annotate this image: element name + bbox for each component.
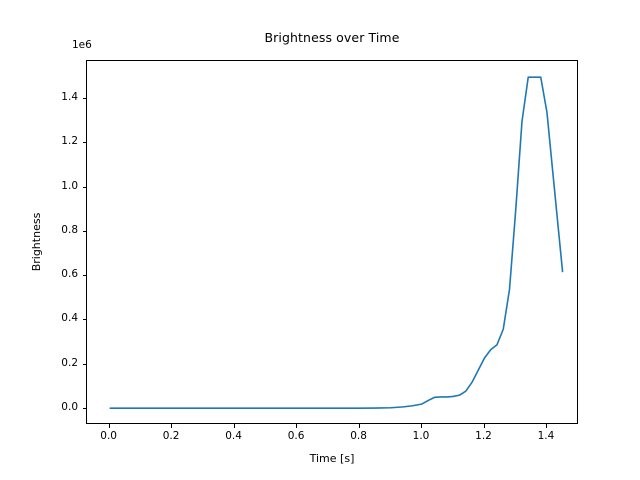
page-title: Brightness over Time: [86, 30, 578, 45]
y-ticklabel: 1.2: [44, 135, 78, 147]
y-ticklabel: 0.8: [44, 224, 78, 236]
x-ticklabel: 0.4: [214, 430, 254, 442]
y-ticklabel: 1.4: [44, 91, 78, 103]
brightness-line: [110, 77, 563, 408]
y-axis-label: Brightness: [30, 60, 46, 424]
x-ticklabel: 0.0: [89, 430, 129, 442]
data-line-svg: [87, 61, 578, 424]
x-tick: [234, 424, 235, 428]
y-ticklabel: 0.2: [44, 357, 78, 369]
y-ticklabel: 0.6: [44, 268, 78, 280]
x-tick: [484, 424, 485, 428]
y-axis-offset-text: 1e6: [72, 39, 92, 51]
plot-area: [86, 60, 578, 424]
y-tick: [83, 98, 87, 99]
y-ticklabel: 1.0: [44, 180, 78, 192]
x-tick: [421, 424, 422, 428]
x-ticklabel: 1.0: [401, 430, 441, 442]
x-ticklabel: 0.2: [151, 430, 191, 442]
y-tick: [83, 187, 87, 188]
y-tick: [83, 275, 87, 276]
y-ticklabel: 0.0: [44, 401, 78, 413]
y-tick: [83, 142, 87, 143]
x-ticklabel: 0.6: [276, 430, 316, 442]
matplotlib-figure: Brightness over Time 1e6 0.00.20.40.60.8…: [0, 0, 640, 480]
x-ticklabel: 0.8: [339, 430, 379, 442]
x-axis-label: Time [s]: [86, 452, 578, 465]
y-ticklabel: 0.4: [44, 312, 78, 324]
x-tick: [359, 424, 360, 428]
y-tick: [83, 408, 87, 409]
y-tick: [83, 364, 87, 365]
y-tick: [83, 319, 87, 320]
x-tick: [546, 424, 547, 428]
x-ticklabel: 1.2: [464, 430, 504, 442]
x-ticklabel: 1.4: [526, 430, 566, 442]
x-tick: [171, 424, 172, 428]
y-tick: [83, 231, 87, 232]
x-tick: [109, 424, 110, 428]
x-tick: [296, 424, 297, 428]
